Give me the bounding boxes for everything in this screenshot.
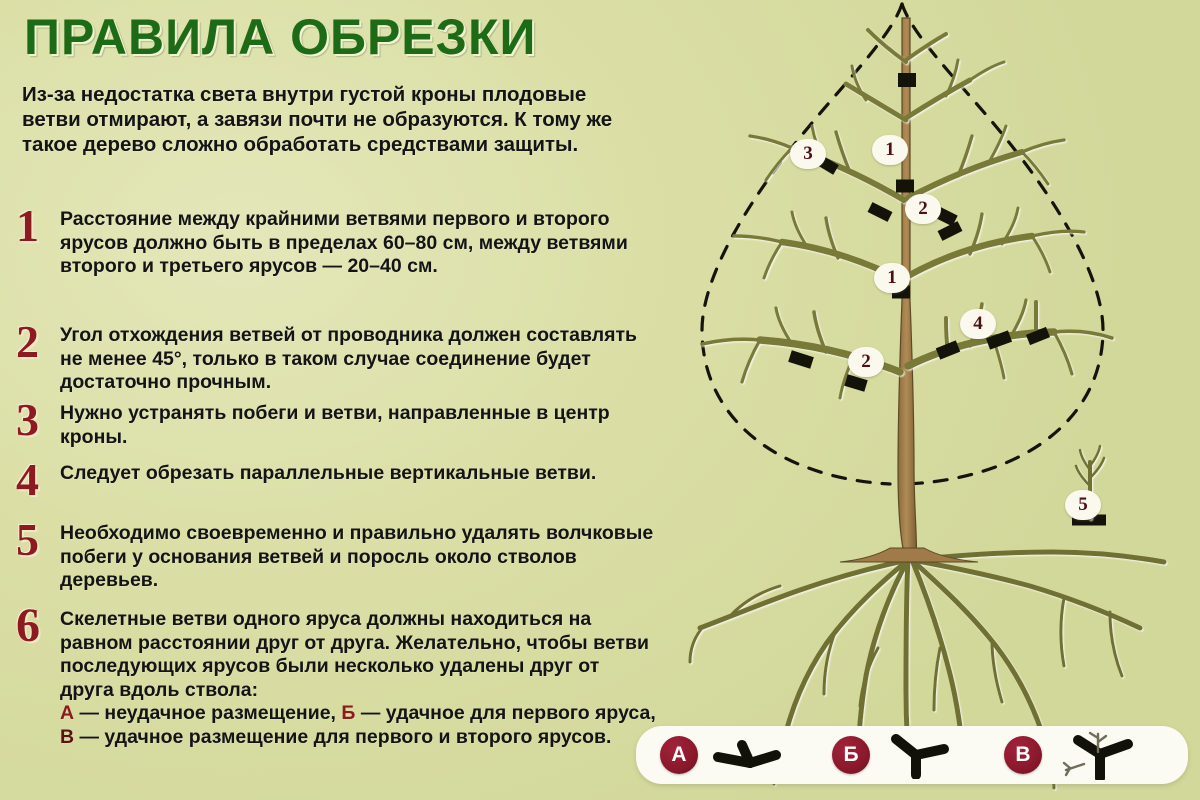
good-two-tier-icon bbox=[1054, 730, 1140, 780]
key-text-b: — удачное для первого яруса, bbox=[355, 702, 655, 724]
page-title: ПРАВИЛА ОБРЕЗКИ bbox=[24, 8, 536, 66]
rule-text: Угол отхождения ветвей от проводника дол… bbox=[60, 320, 656, 395]
legend-badge-b: Б bbox=[832, 736, 870, 774]
rule-number: 6 bbox=[16, 604, 60, 648]
rule-number: 4 bbox=[16, 458, 60, 502]
rule-item-4: 4 Следует обрезать параллельные вертикал… bbox=[16, 458, 656, 502]
rule-number: 3 bbox=[16, 398, 60, 442]
text-column: ПРАВИЛА ОБРЕЗКИ Из-за недостатка света в… bbox=[0, 0, 665, 800]
diagram-marker-5[interactable]: 5 bbox=[1065, 490, 1101, 520]
rule6-lead-text: Скелетные ветви одного яруса должны нахо… bbox=[60, 608, 649, 701]
tree-diagram: 3 1 2 1 2 4 5 bbox=[640, 0, 1200, 800]
pruning-cut-marks bbox=[790, 80, 1106, 520]
rule-text: Скелетные ветви одного яруса должны нахо… bbox=[60, 604, 656, 749]
legend-item-a[interactable]: А bbox=[660, 733, 790, 777]
legend-item-v[interactable]: В bbox=[1004, 730, 1140, 780]
legend-bar: А Б В bbox=[636, 726, 1188, 784]
key-text-v: — удачное размещение для первого и второ… bbox=[74, 726, 611, 748]
legend-badge-v: В bbox=[1004, 736, 1042, 774]
tree-illustration-svg bbox=[640, 0, 1200, 800]
diagram-marker-2-lower[interactable]: 2 bbox=[848, 347, 884, 377]
diagram-marker-2-upper[interactable]: 2 bbox=[905, 194, 941, 224]
key-letter-v: В bbox=[60, 726, 74, 748]
key-letter-a: А bbox=[60, 702, 74, 724]
good-single-tier-icon bbox=[882, 731, 962, 779]
legend-item-b[interactable]: Б bbox=[832, 731, 962, 779]
key-text-a: — неудачное размещение, bbox=[74, 702, 341, 724]
legend-badge-a: А bbox=[660, 736, 698, 774]
rule-item-2: 2 Угол отхождения ветвей от проводника д… bbox=[16, 320, 656, 395]
diagram-marker-4[interactable]: 4 bbox=[960, 309, 996, 339]
bad-narrow-crotch-icon bbox=[710, 733, 790, 777]
rule-item-3: 3 Нужно устранять побеги и ветви, направ… bbox=[16, 398, 656, 449]
key-letter-b: Б bbox=[341, 702, 355, 724]
rule-text: Расстояние между крайними ветвями первог… bbox=[60, 204, 656, 279]
rule-item-1: 1 Расстояние между крайними ветвями перв… bbox=[16, 204, 656, 279]
infographic-poster: ПРАВИЛА ОБРЕЗКИ Из-за недостатка света в… bbox=[0, 0, 1200, 800]
rule-number: 1 bbox=[16, 204, 60, 248]
rule-item-6: 6 Скелетные ветви одного яруса должны на… bbox=[16, 604, 656, 749]
rule-text: Нужно устранять побеги и ветви, направле… bbox=[60, 398, 656, 449]
rule-number: 5 bbox=[16, 518, 60, 562]
rule-text: Следует обрезать параллельные вертикальн… bbox=[60, 458, 656, 486]
diagram-marker-1-lower[interactable]: 1 bbox=[874, 263, 910, 293]
rule-text: Необходимо своевременно и правильно удал… bbox=[60, 518, 656, 593]
diagram-marker-3-upper[interactable]: 3 bbox=[790, 139, 826, 169]
intro-paragraph: Из-за недостатка света внутри густой кро… bbox=[22, 82, 642, 157]
rule-number: 2 bbox=[16, 320, 60, 364]
rule-item-5: 5 Необходимо своевременно и правильно уд… bbox=[16, 518, 656, 593]
diagram-marker-1-upper[interactable]: 1 bbox=[872, 135, 908, 165]
